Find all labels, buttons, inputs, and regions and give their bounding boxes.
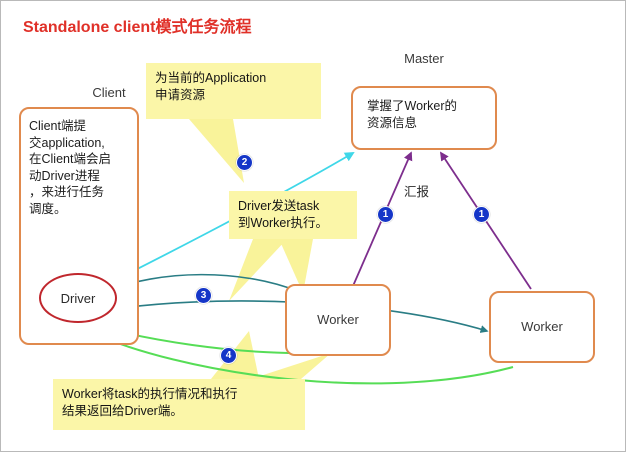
page-title: Standalone client模式任务流程 [23,13,251,37]
diagram-canvas: Standalone client模式任务流程 [0,0,626,452]
master-box-text: 掌握了Worker的 资源信息 [367,98,493,131]
worker-left-label: Worker [287,312,389,327]
step-badge-1-left: 1 [377,206,394,223]
callout-tail-task [229,239,287,301]
report-edge-label: 汇报 [404,181,429,200]
worker-right-box[interactable]: Worker [489,291,595,363]
callout-apply-resource[interactable]: 为当前的Application 申请资源 [146,63,321,119]
step-badge-3: 3 [195,287,212,304]
step-badge-2: 2 [236,154,253,171]
driver-label: Driver [61,291,96,306]
worker-left-box[interactable]: Worker [285,284,391,356]
client-box-text: Client端提 交application, 在Client端会启 动Drive… [29,118,135,217]
master-label: Master [351,51,497,66]
callout-send-task[interactable]: Driver发送task 到Worker执行。 [229,191,357,239]
callout-tail-result2 [251,353,331,379]
step-badge-4: 4 [220,347,237,364]
callout-tail-apply [189,119,244,183]
callout-report-result[interactable]: Worker将task的执行情况和执行 结果返回给Driver端。 [53,379,305,430]
master-box[interactable]: 掌握了Worker的 资源信息 [351,86,497,150]
driver-node[interactable]: Driver [39,273,117,323]
worker-right-label: Worker [491,319,593,334]
step-badge-1-right: 1 [473,206,490,223]
